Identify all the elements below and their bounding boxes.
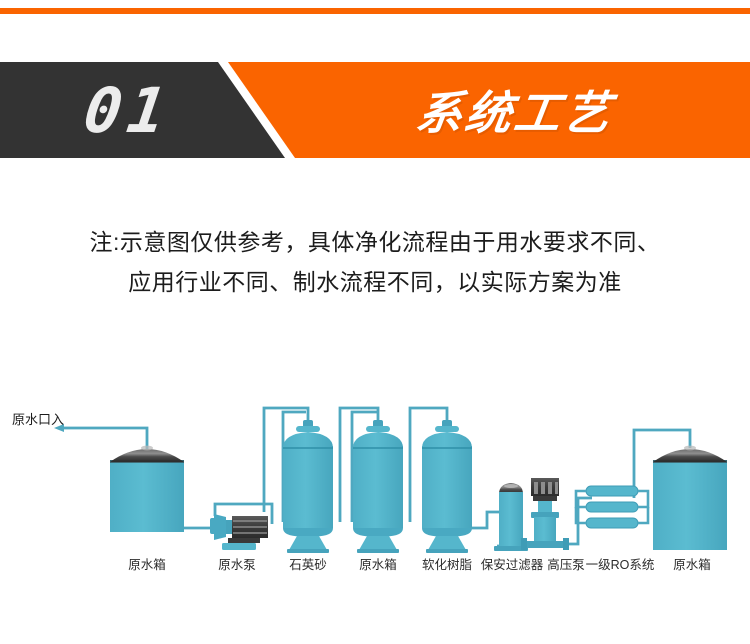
slide-page: 01 系统工艺 注:示意图仅供参考，具体净化流程由于用水要求不同、 应用行业不同… bbox=[0, 0, 750, 644]
banner-orange-block bbox=[228, 62, 750, 158]
stage-label-ro-system: 一级RO系统 bbox=[586, 558, 655, 572]
stage-label-security-filter: 保安过滤器 bbox=[481, 557, 544, 572]
activated-carbon-filter-graphic bbox=[353, 420, 403, 553]
stage-label-raw-water-pump: 原水泵 bbox=[218, 558, 256, 572]
stage-label-activated-carbon: 原水箱 bbox=[359, 557, 397, 572]
top-accent-rule bbox=[0, 8, 750, 14]
ro-system-stage-1-graphic bbox=[576, 486, 648, 528]
raw-water-tank-2-graphic bbox=[653, 446, 727, 550]
raw-water-pump-graphic bbox=[210, 514, 268, 550]
raw-water-tank-1-graphic bbox=[110, 446, 184, 532]
disclaimer-note: 注:示意图仅供参考，具体净化流程由于用水要求不同、 应用行业不同、制水流程不同，… bbox=[50, 222, 700, 302]
disclaimer-note-line-1: 注:示意图仅供参考，具体净化流程由于用水要求不同、 bbox=[50, 222, 700, 262]
water-treatment-flow-diagram: 原水口入 bbox=[0, 386, 750, 586]
stage-label-raw-water-tank-1: 原水箱 bbox=[128, 557, 166, 572]
pipe-inlet bbox=[70, 428, 147, 450]
stage-label-raw-water-tank-2: 原水箱 bbox=[673, 557, 711, 572]
section-banner bbox=[0, 62, 750, 158]
disclaimer-note-line-2: 应用行业不同、制水流程不同，以实际方案为准 bbox=[50, 262, 700, 302]
stage-label-quartz-sand: 石英砂 bbox=[289, 558, 327, 572]
high-pressure-pump-graphic bbox=[521, 478, 569, 550]
quartz-sand-filter-graphic bbox=[283, 420, 333, 553]
inlet-label: 原水口入 bbox=[12, 412, 64, 427]
softening-resin-filter-graphic bbox=[422, 420, 472, 553]
stage-label-softening-resin: 软化树脂 bbox=[422, 557, 472, 572]
stage-label-high-pressure-pump: 高压泵 bbox=[547, 557, 585, 572]
